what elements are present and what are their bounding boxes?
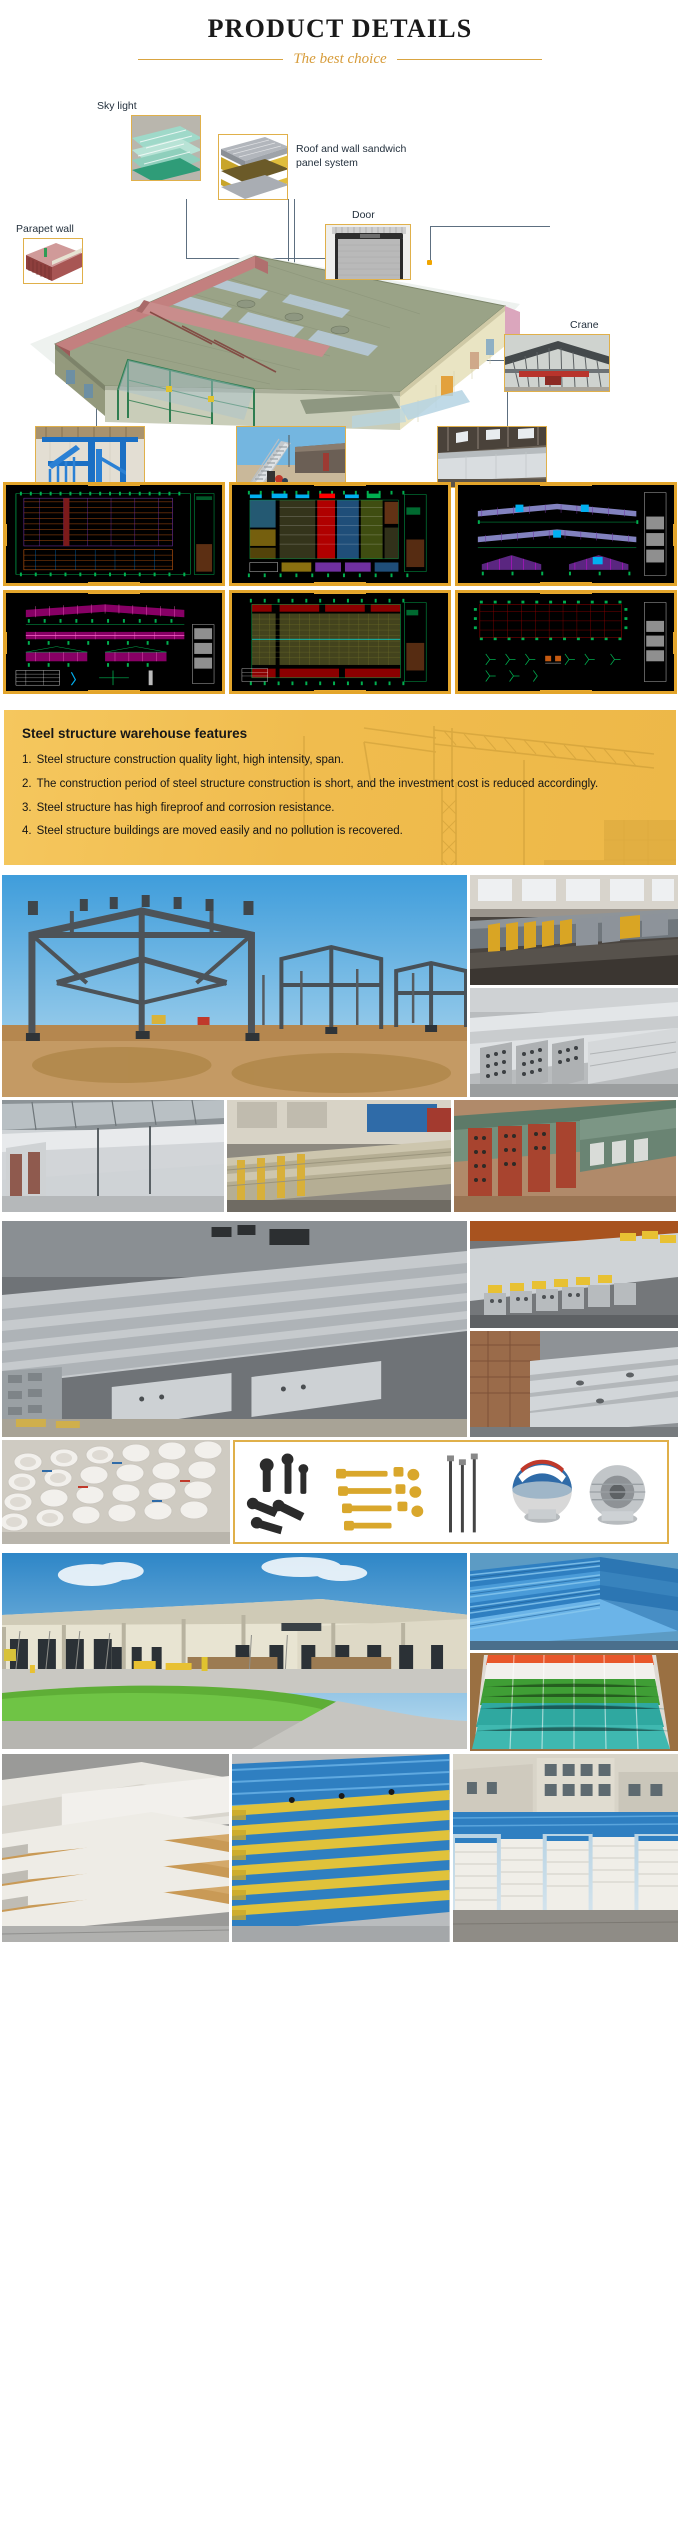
- cad-drawing-anchor-bolt-and-column-grid-plan[interactable]: [455, 590, 677, 694]
- cad-drawing-framing-elevation-plan[interactable]: [3, 482, 225, 586]
- frame-tab-bottom: [540, 582, 592, 586]
- photo-red-primer-end-plates-on-green-beams[interactable]: [454, 1100, 676, 1212]
- gallery-row: [2, 1100, 678, 1212]
- frame-tab-bottom: [314, 690, 366, 694]
- photo-blue-rockwool-sandwich-panels-stacked[interactable]: [232, 1754, 449, 1942]
- feature-number: 3.: [22, 800, 32, 818]
- photo-galvanized-c-and-z-purlins-stacked[interactable]: [2, 1221, 467, 1437]
- page-header: PRODUCT DETAILS The best choice: [0, 0, 680, 74]
- gallery-purlins-accessories: [0, 1221, 680, 1544]
- gallery-finished-buildings-and-panels: [0, 1553, 680, 1942]
- cad-row: [0, 482, 680, 590]
- frame-tab-bottom: [88, 690, 140, 694]
- callout-label-sandwich-panel: Roof and wall sandwich panel system: [296, 142, 426, 170]
- frame-tab-top: [314, 590, 366, 594]
- feature-item: 3. Steel structure has high fireproof an…: [22, 800, 658, 818]
- cad-drawing-side-elevation-and-sections[interactable]: [455, 482, 677, 586]
- cad-drawing-color-coded-floor-layout-plan[interactable]: [229, 482, 451, 586]
- callout-image-staircase[interactable]: [236, 426, 346, 488]
- features-banner: Steel structure warehouse features 1. St…: [4, 710, 676, 865]
- warehouse-exploded-diagram: Sky light: [0, 74, 680, 474]
- callout-label-parapet-wall: Parapet wall: [16, 222, 74, 236]
- cad-drawing-purlin-elevation-and-connection-details[interactable]: [3, 590, 225, 694]
- rule-left: [138, 59, 283, 60]
- callout-label-crane: Crane: [570, 318, 599, 332]
- frame-tab-top: [540, 590, 592, 594]
- frame-tab-right: [673, 524, 677, 546]
- product-details-page: PRODUCT DETAILS The best choice: [0, 0, 680, 1942]
- cad-row: [0, 590, 680, 698]
- feature-text: Steel structure has high fireproof and c…: [37, 800, 658, 818]
- rule-right: [397, 59, 542, 60]
- feature-number: 4.: [22, 823, 32, 841]
- photo-finished-beige-warehouse-with-lawn[interactable]: [2, 1553, 467, 1749]
- photo-painted-h-beams-stacked-in-factory[interactable]: [470, 875, 678, 985]
- photo-pu-sandwich-panels-stacked[interactable]: [2, 1754, 229, 1942]
- frame-tab-left: [3, 524, 7, 546]
- frame-tab-bottom: [314, 582, 366, 586]
- page-title: PRODUCT DETAILS: [0, 14, 680, 44]
- feature-item: 4. Steel structure buildings are moved e…: [22, 823, 658, 841]
- photo-galvanized-angle-steel-stacked[interactable]: [470, 1331, 678, 1437]
- callout-image-beam[interactable]: [437, 426, 547, 488]
- frame-tab-top: [314, 482, 366, 486]
- photo-galvanized-h-beams-with-bolt-holes[interactable]: [470, 988, 678, 1097]
- feature-text: The construction period of steel structu…: [37, 776, 658, 794]
- callout-image-parapet-wall[interactable]: [23, 238, 83, 284]
- feature-text: Steel structure construction quality lig…: [37, 752, 658, 770]
- callout-image-second-floor[interactable]: [35, 426, 145, 488]
- frame-tab-left: [3, 632, 7, 654]
- frame-tab-top: [88, 482, 140, 486]
- subtitle-row: The best choice: [0, 51, 680, 68]
- feature-item: 1. Steel structure construction quality …: [22, 752, 658, 770]
- callout-image-sky-light[interactable]: [131, 115, 201, 181]
- gallery-column: [470, 875, 678, 1097]
- photo-steel-frame-erection-on-site[interactable]: [2, 875, 467, 1097]
- feature-item: 2. The construction period of steel stru…: [22, 776, 658, 794]
- page-subtitle: The best choice: [293, 51, 386, 68]
- cad-drawing-roof-purlin-layout-plan[interactable]: [229, 590, 451, 694]
- frame-tab-bottom: [540, 690, 592, 694]
- features-content: Steel structure warehouse features 1. St…: [22, 726, 658, 841]
- feature-number: 1.: [22, 752, 32, 770]
- gallery-steel-frame-and-members: [0, 875, 680, 1212]
- gallery-row: [2, 1440, 678, 1544]
- cad-drawings-section: [0, 480, 680, 704]
- features-title: Steel structure warehouse features: [22, 726, 658, 741]
- gallery-row: [2, 875, 678, 1097]
- photo-beige-h-beams-stacked-in-workshop[interactable]: [227, 1100, 451, 1212]
- callout-label-door: Door: [352, 208, 375, 222]
- photo-multicolor-glazed-roof-tiles[interactable]: [470, 1653, 678, 1751]
- photo-white-pvc-downpipes-stacked[interactable]: [2, 1440, 230, 1544]
- gallery-row: [2, 1221, 678, 1437]
- gallery-row: [2, 1754, 678, 1942]
- frame-tab-top: [540, 482, 592, 486]
- photo-eps-panel-bundles-in-factory-yard[interactable]: [453, 1754, 678, 1942]
- photo-purlins-with-yellow-end-caps-bundled[interactable]: [470, 1221, 678, 1328]
- feature-text: Steel structure buildings are moved easi…: [37, 823, 658, 841]
- feature-number: 2.: [22, 776, 32, 794]
- gallery-column: [470, 1221, 678, 1437]
- frame-tab-bottom: [88, 582, 140, 586]
- callout-image-crane[interactable]: [504, 334, 610, 392]
- gallery-row: [2, 1553, 678, 1751]
- photo-bolts-screws-tie-rods-turbine-ventilators[interactable]: [233, 1440, 669, 1544]
- photo-white-beam-inside-warehouse[interactable]: [2, 1100, 224, 1212]
- callout-label-sky-light: Sky light: [97, 99, 137, 113]
- callout-image-door[interactable]: [325, 224, 411, 280]
- frame-tab-right: [673, 632, 677, 654]
- callout-image-sandwich-panel[interactable]: [218, 134, 288, 200]
- frame-tab-top: [88, 590, 140, 594]
- photo-blue-corrugated-roofing-sheets[interactable]: [470, 1553, 678, 1650]
- gallery-column: [470, 1553, 678, 1751]
